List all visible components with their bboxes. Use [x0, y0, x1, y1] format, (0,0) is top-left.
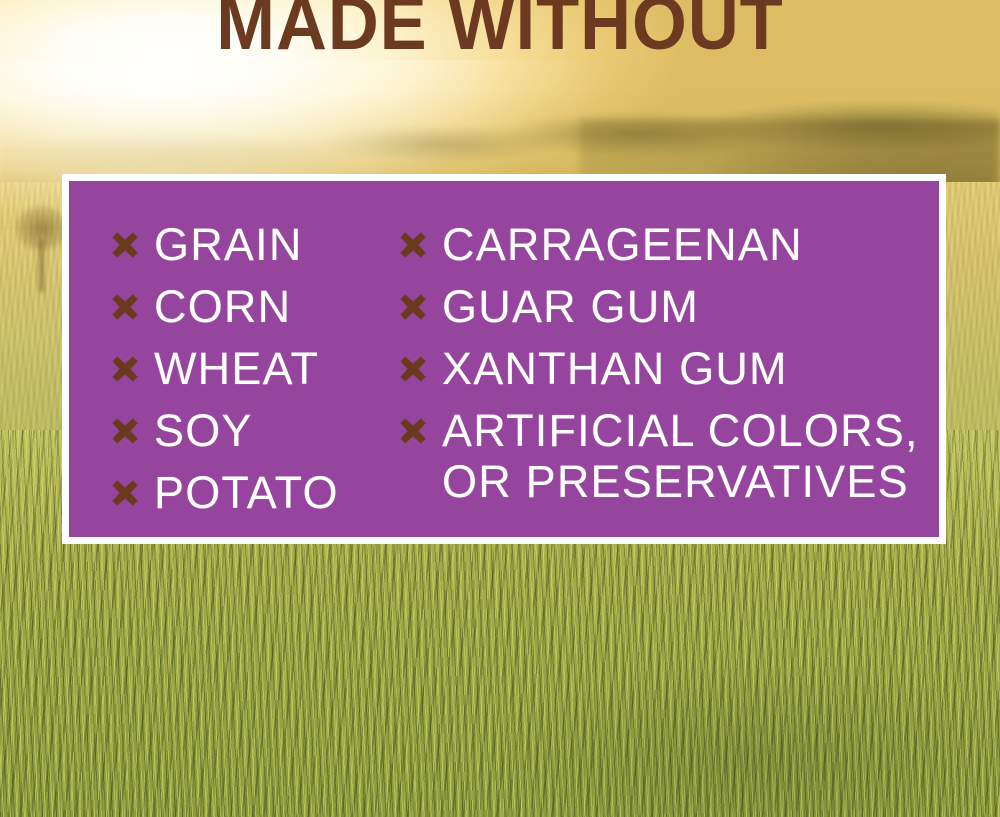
x-mark-icon	[110, 478, 140, 508]
list-item: CARRAGEENAN	[398, 219, 939, 270]
list-item-label: XANTHAN GUM	[442, 343, 788, 394]
made-without-panel: GRAIN CORN	[62, 174, 946, 544]
excluded-ingredients-columns: GRAIN CORN	[69, 181, 939, 537]
list-item-label: SOY	[154, 405, 253, 456]
list-item: CORN	[110, 281, 389, 332]
list-item-label: POTATO	[154, 467, 339, 518]
list-item: ARTIFICIAL COLORS, OR PRESERVATIVES	[398, 405, 939, 507]
x-mark-icon	[110, 230, 140, 260]
x-mark-icon	[398, 292, 428, 322]
list-item-label: GUAR GUM	[442, 281, 699, 332]
ingredient-column-left: GRAIN CORN	[69, 181, 389, 537]
x-mark-icon	[110, 354, 140, 384]
x-mark-icon	[110, 292, 140, 322]
list-item-label: ARTIFICIAL COLORS, OR PRESERVATIVES	[442, 405, 919, 507]
list-item: GRAIN	[110, 219, 389, 270]
x-mark-icon	[398, 416, 428, 446]
list-item-label: GRAIN	[154, 219, 303, 270]
page-title: MADE WITHOUT	[30, 0, 970, 61]
x-mark-icon	[398, 230, 428, 260]
list-item-label: CORN	[154, 281, 291, 332]
list-item-label: CARRAGEENAN	[442, 219, 803, 270]
list-item: SOY	[110, 405, 389, 456]
list-item-label: WHEAT	[154, 343, 319, 394]
panel-inner: GRAIN CORN	[69, 181, 939, 537]
ingredient-column-right: CARRAGEENAN GUAR GUM	[389, 181, 939, 537]
x-mark-icon	[398, 354, 428, 384]
list-item: GUAR GUM	[398, 281, 939, 332]
list-item: WHEAT	[110, 343, 389, 394]
promo-banner: MADE WITHOUT GRAIN	[0, 0, 1000, 817]
x-mark-icon	[110, 416, 140, 446]
list-item: XANTHAN GUM	[398, 343, 939, 394]
list-item: POTATO	[110, 467, 389, 518]
